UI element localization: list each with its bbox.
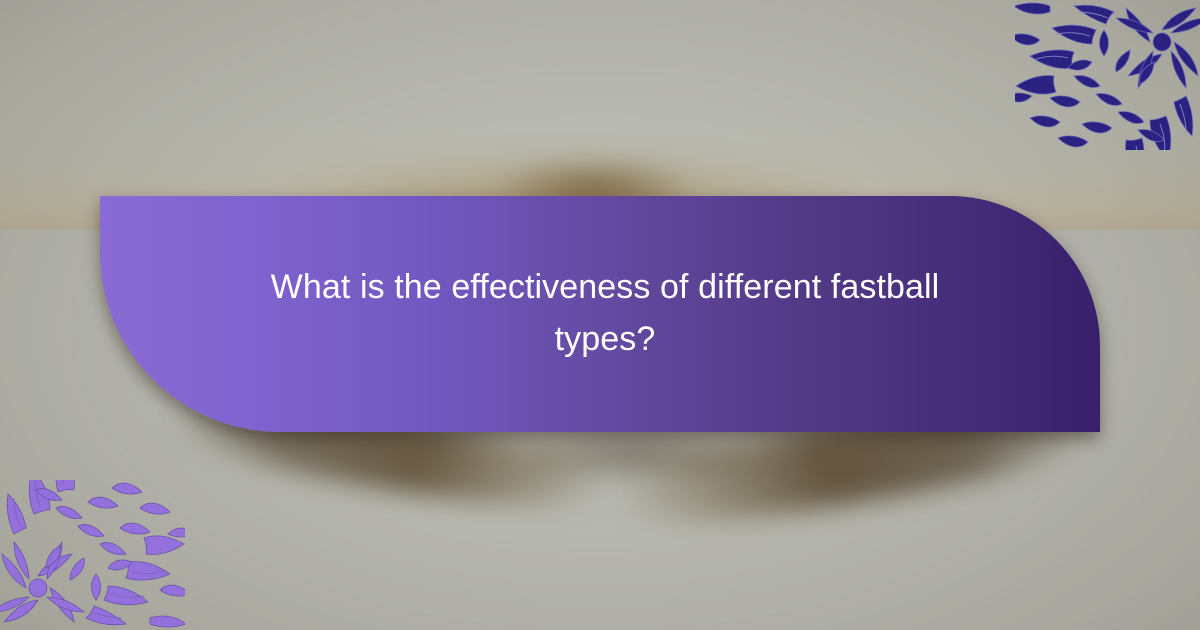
title-banner-surface: What is the effectiveness of different f…	[100, 196, 1100, 432]
title-banner: What is the effectiveness of different f…	[100, 196, 1100, 432]
page-title: What is the effectiveness of different f…	[100, 262, 1100, 365]
share-card: What is the effectiveness of different f…	[0, 0, 1200, 630]
